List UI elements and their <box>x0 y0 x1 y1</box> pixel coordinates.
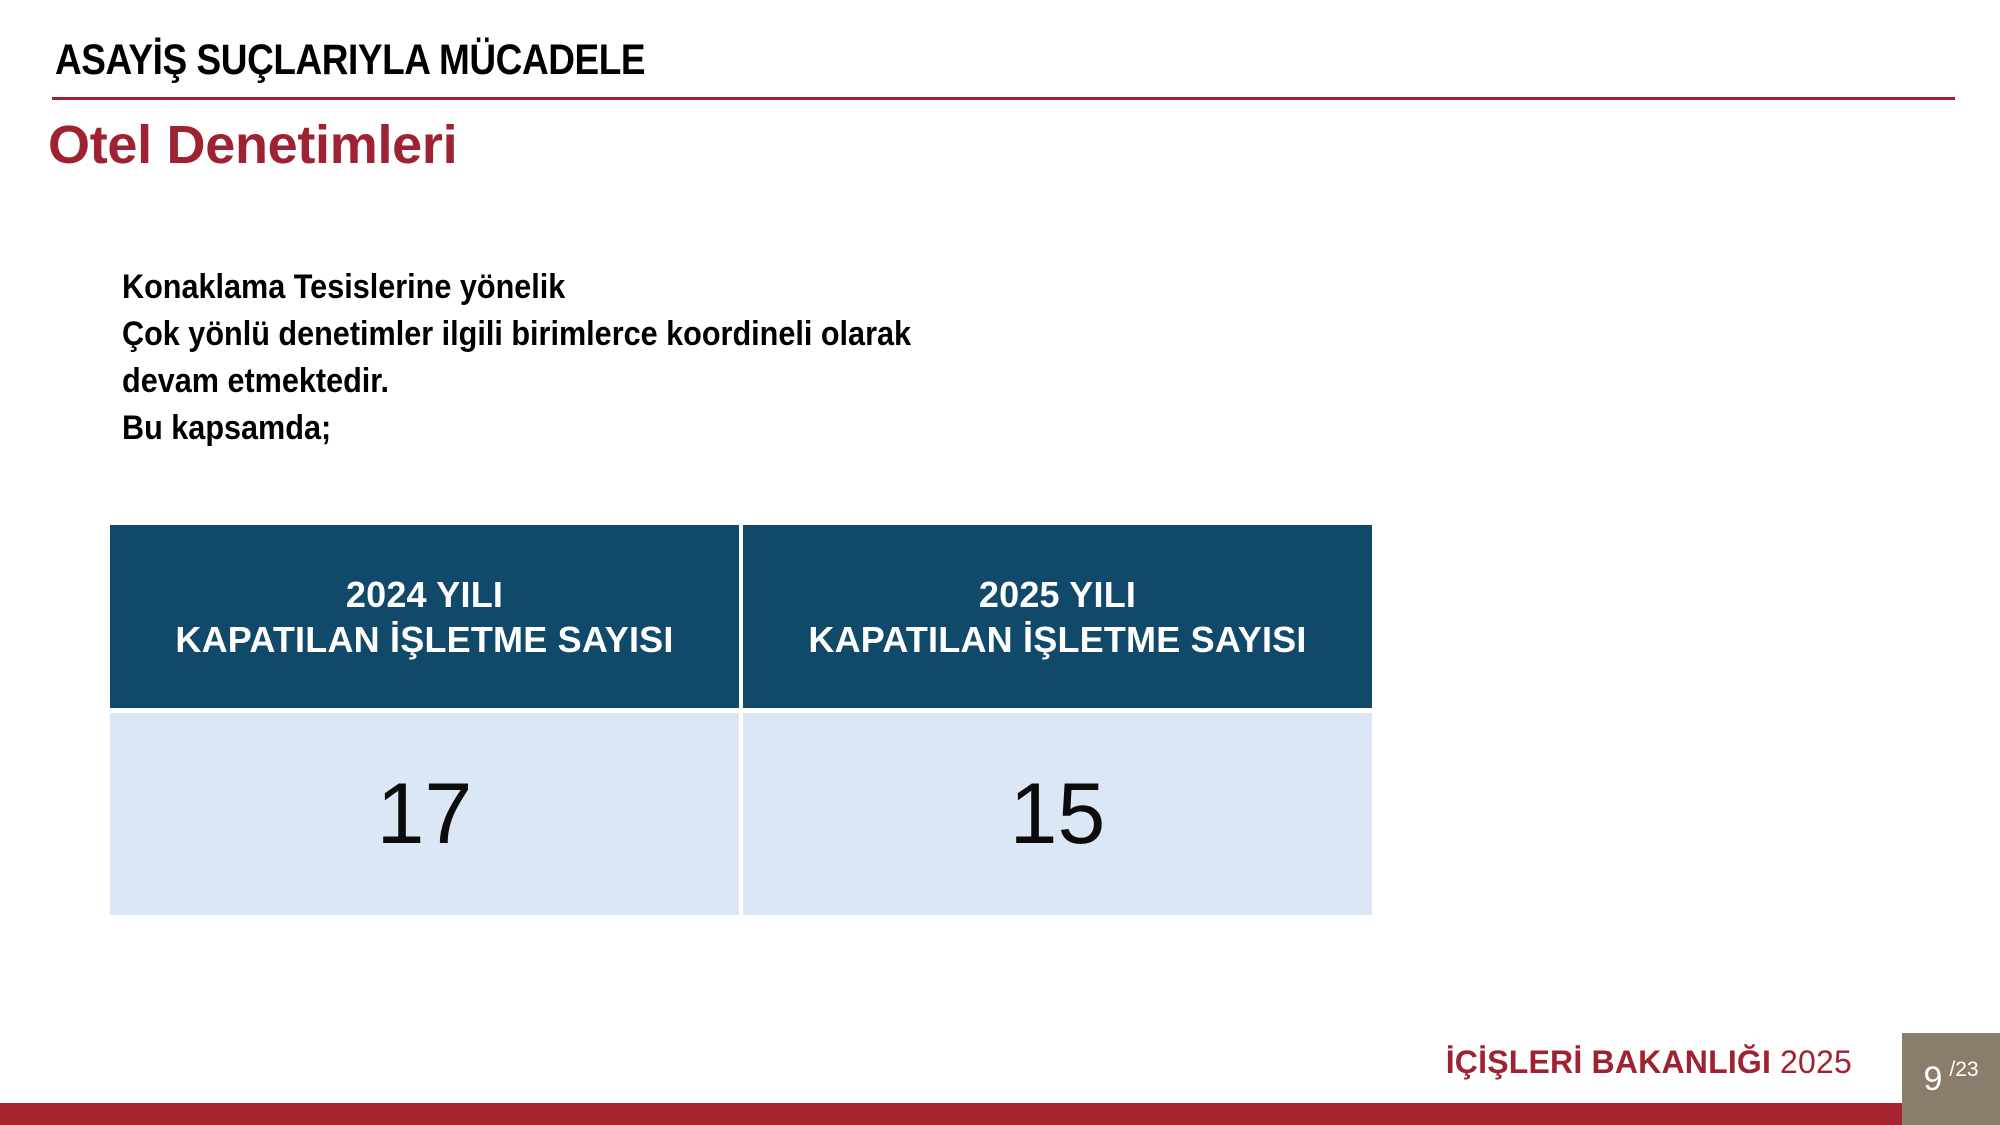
table-header-2024-label: KAPATILAN İŞLETME SAYISI <box>175 617 673 662</box>
footer-accent-bar <box>0 1103 1902 1125</box>
body-paragraph: Konaklama Tesislerine yönelik Çok yönlü … <box>122 264 1222 452</box>
body-line-4: Bu kapsamda; <box>122 405 1112 452</box>
table-header-2024-year: 2024 YILI <box>175 572 673 617</box>
statistics-table: 2024 YILI KAPATILAN İŞLETME SAYISI 2025 … <box>110 525 1372 915</box>
body-line-2: Çok yönlü denetimler ilgili birimlerce k… <box>122 311 1112 358</box>
body-line-1: Konaklama Tesislerine yönelik <box>122 264 1112 311</box>
table-value-2024: 17 <box>110 713 739 915</box>
page-number-current: 9 <box>1923 1062 1942 1096</box>
footer-year: 2025 <box>1780 1044 1852 1080</box>
header-divider-rule <box>52 97 1955 100</box>
page-title: Otel Denetimleri <box>48 114 457 176</box>
table-header-row: 2024 YILI KAPATILAN İŞLETME SAYISI 2025 … <box>110 525 1372 708</box>
slide: ASAYİŞ SUÇLARIYLA MÜCADELE Otel Denetiml… <box>0 0 2000 1125</box>
footer-branding: İÇİŞLERİ BAKANLIĞI 2025 <box>1446 1044 1852 1081</box>
table-header-cell-2024: 2024 YILI KAPATILAN İŞLETME SAYISI <box>110 525 739 708</box>
footer-organization: İÇİŞLERİ BAKANLIĞI <box>1446 1044 1771 1080</box>
page-number-badge: 9 /23 <box>1902 1033 2000 1125</box>
table-data-row: 17 15 <box>110 713 1372 915</box>
table-value-2025: 15 <box>743 713 1372 915</box>
table-header-2025-year: 2025 YILI <box>808 572 1306 617</box>
table-header-cell-2025: 2025 YILI KAPATILAN İŞLETME SAYISI <box>743 525 1372 708</box>
body-line-3: devam etmektedir. <box>122 358 1112 405</box>
section-eyebrow: ASAYİŞ SUÇLARIYLA MÜCADELE <box>55 36 645 85</box>
table-header-2025-label: KAPATILAN İŞLETME SAYISI <box>808 617 1306 662</box>
page-number-total: /23 <box>1949 1059 1978 1080</box>
